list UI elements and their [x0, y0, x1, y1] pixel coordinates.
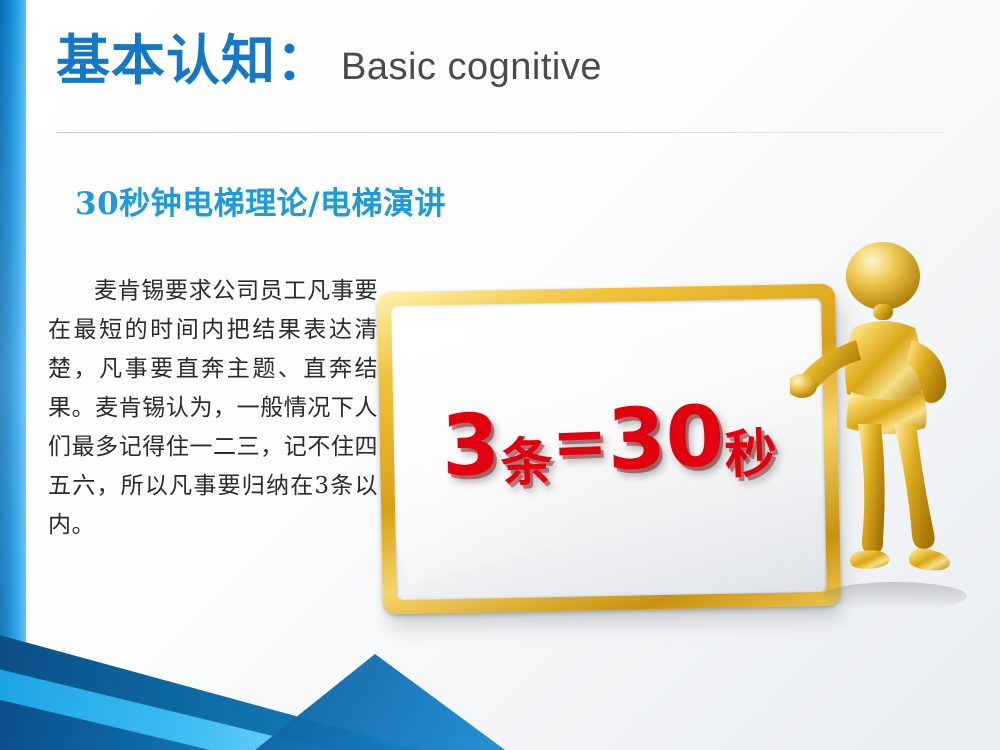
- page-title-english: Basic cognitive: [341, 46, 602, 89]
- whiteboard-formula: 3条=30秒: [392, 390, 825, 490]
- figure-neck: [873, 304, 893, 320]
- subtitle: 30秒钟电梯理论/电梯演讲: [75, 178, 446, 223]
- title-divider: [56, 132, 944, 133]
- bottom-decoration: [0, 550, 1000, 750]
- formula-number-left: 3: [440, 395, 502, 495]
- formula-equals: =: [551, 402, 609, 481]
- formula-unit-left: 条: [500, 432, 554, 494]
- slide-canvas: 基本认知： Basic cognitive 30秒钟电梯理论/电梯演讲 麦肯锡要…: [0, 0, 1000, 750]
- figure-head: [846, 242, 920, 310]
- page-title-chinese: 基本认知：: [56, 34, 331, 88]
- body-paragraph: 麦肯锡要求公司员工凡事要在最短的时间内把结果表达清楚，凡事要直奔主题、直奔结果。…: [48, 272, 378, 545]
- formula-number-right: 30: [605, 387, 725, 489]
- page-title: 基本认知： Basic cognitive: [56, 34, 956, 89]
- figure-left-leg: [858, 424, 885, 554]
- figure-right-leg: [894, 423, 935, 549]
- formula-unit-right: 秒: [724, 424, 778, 486]
- deco-triangle-mid: [255, 654, 505, 750]
